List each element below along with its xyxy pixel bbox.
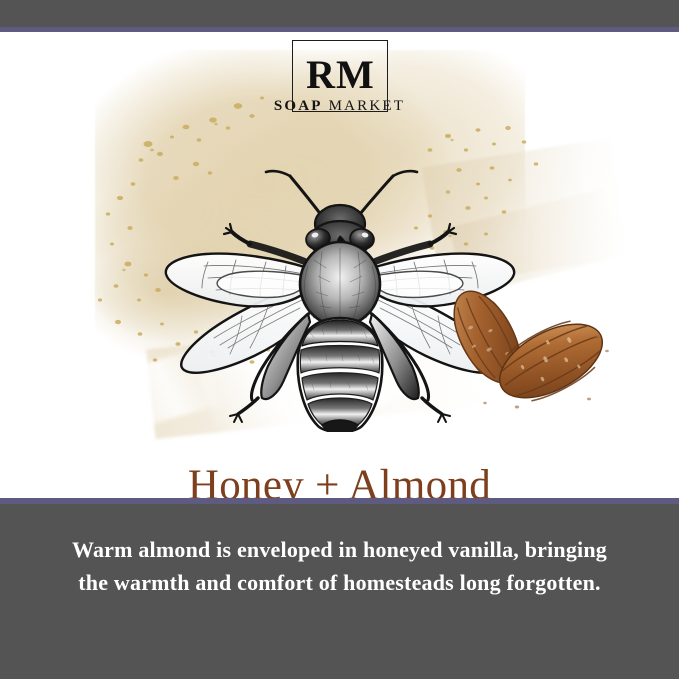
description-text: Warm almond is enveloped in honeyed vani…	[58, 533, 621, 599]
logo-tagline-market: MARKET	[329, 98, 406, 114]
product-label: RM SOAP MARKET Honey + Almond Warm almon…	[0, 0, 679, 679]
description-panel: Warm almond is enveloped in honeyed vani…	[0, 504, 679, 679]
product-name: Honey + Almond	[0, 464, 679, 498]
logo-monogram: RM	[293, 55, 389, 95]
top-gray-bar	[0, 0, 679, 27]
illustration-area: RM SOAP MARKET Honey + Almond	[0, 32, 679, 498]
brand-logo: RM SOAP MARKET	[0, 40, 679, 117]
logo-frame: RM SOAP MARKET	[292, 40, 388, 112]
logo-tagline: SOAP MARKET	[274, 99, 405, 114]
almond-illustration	[425, 277, 625, 427]
logo-tagline-soap: SOAP	[274, 98, 323, 114]
